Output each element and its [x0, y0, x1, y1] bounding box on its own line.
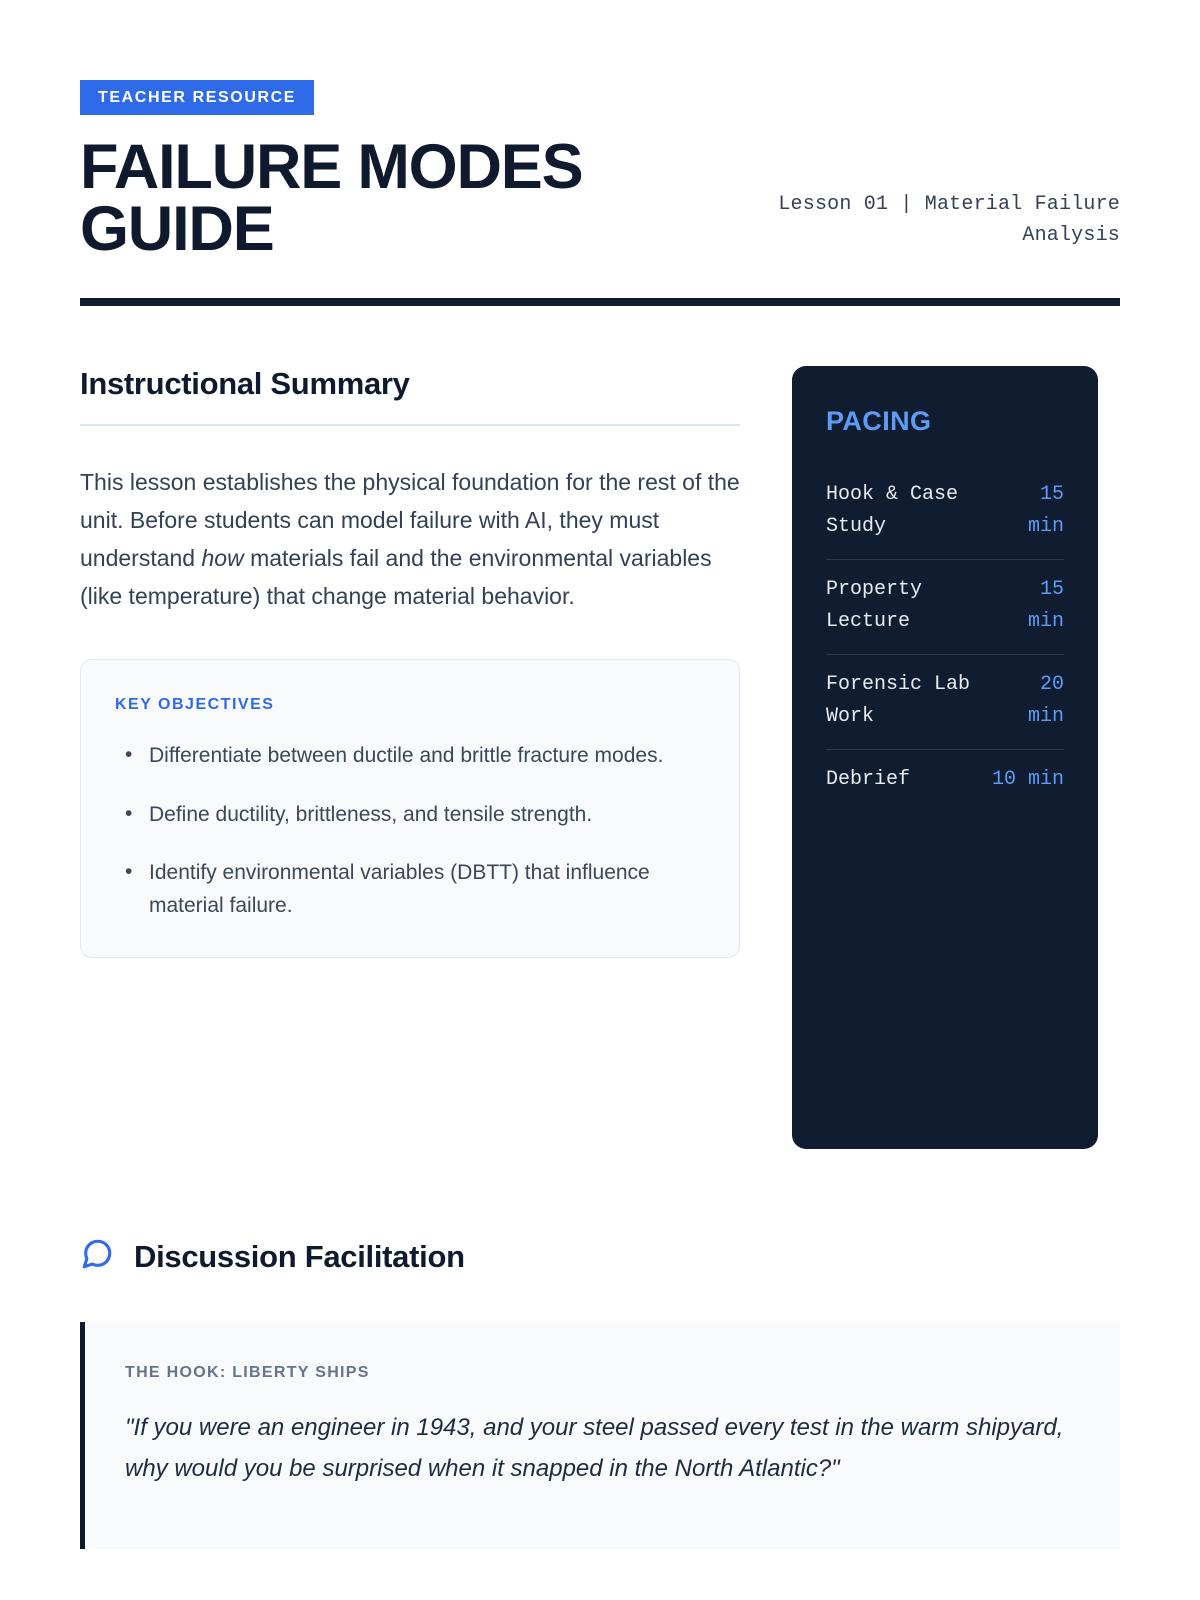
pacing-row: Property Lecture 15 min	[826, 560, 1064, 655]
main-content: Instructional Summary This lesson establ…	[80, 366, 1120, 1149]
header-rule	[80, 298, 1120, 306]
pacing-column: PACING Hook & Case Study 15 min Property…	[792, 366, 1098, 1149]
pacing-row-label: Property Lecture	[826, 574, 1002, 638]
key-objectives-label: KEY OBJECTIVES	[115, 696, 705, 714]
pacing-list: Hook & Case Study 15 min Property Lectur…	[826, 465, 1064, 812]
pacing-row-label: Hook & Case Study	[826, 479, 1002, 543]
header-title-row: FAILURE MODES GUIDE Lesson 01 | Material…	[80, 137, 1120, 260]
discussion-heading-row: Discussion Facilitation	[80, 1237, 1120, 1276]
hook-label: THE HOOK: LIBERTY SHIPS	[125, 1364, 1080, 1382]
pacing-row: Debrief 10 min	[826, 750, 1064, 812]
teacher-resource-badge: TEACHER RESOURCE	[80, 80, 314, 115]
pacing-row-label: Debrief	[826, 764, 992, 796]
document-header: TEACHER RESOURCE FAILURE MODES GUIDE Les…	[80, 80, 1120, 306]
hook-quote: "If you were an engineer in 1943, and yo…	[125, 1408, 1080, 1489]
pacing-title: PACING	[826, 406, 1064, 437]
lesson-meta: Lesson 01 | Material Failure Analysis	[730, 189, 1120, 251]
page-title: FAILURE MODES GUIDE	[80, 137, 680, 260]
key-objectives-list: Differentiate between ductile and brittl…	[115, 740, 705, 922]
discussion-facilitation-section: Discussion Facilitation THE HOOK: LIBERT…	[80, 1237, 1120, 1549]
pacing-row: Forensic Lab Work 20 min	[826, 655, 1064, 750]
summary-column: Instructional Summary This lesson establ…	[80, 366, 740, 957]
list-item: Differentiate between ductile and brittl…	[115, 740, 705, 773]
list-item: Identify environmental variables (DBTT) …	[115, 857, 705, 922]
pacing-row-label: Forensic Lab Work	[826, 669, 1002, 733]
hook-callout: THE HOOK: LIBERTY SHIPS "If you were an …	[80, 1322, 1120, 1549]
section-divider	[80, 424, 740, 426]
pacing-row-duration: 15 min	[1002, 574, 1064, 638]
pacing-row-duration: 20 min	[1002, 669, 1064, 733]
pacing-row-duration: 10 min	[992, 764, 1064, 796]
key-objectives-card: KEY OBJECTIVES Differentiate between duc…	[80, 659, 740, 957]
instructional-summary-heading: Instructional Summary	[80, 366, 740, 402]
speech-bubble-icon	[80, 1237, 114, 1276]
pacing-row-duration: 15 min	[1002, 479, 1064, 543]
pacing-row: Hook & Case Study 15 min	[826, 465, 1064, 560]
list-item: Define ductility, brittleness, and tensi…	[115, 799, 705, 832]
pacing-panel: PACING Hook & Case Study 15 min Property…	[792, 366, 1098, 1149]
document-page: TEACHER RESOURCE FAILURE MODES GUIDE Les…	[0, 0, 1200, 1600]
instructional-summary-body: This lesson establishes the physical fou…	[80, 464, 740, 615]
summary-text-emphasis: how	[201, 545, 243, 571]
discussion-facilitation-heading: Discussion Facilitation	[134, 1239, 465, 1275]
